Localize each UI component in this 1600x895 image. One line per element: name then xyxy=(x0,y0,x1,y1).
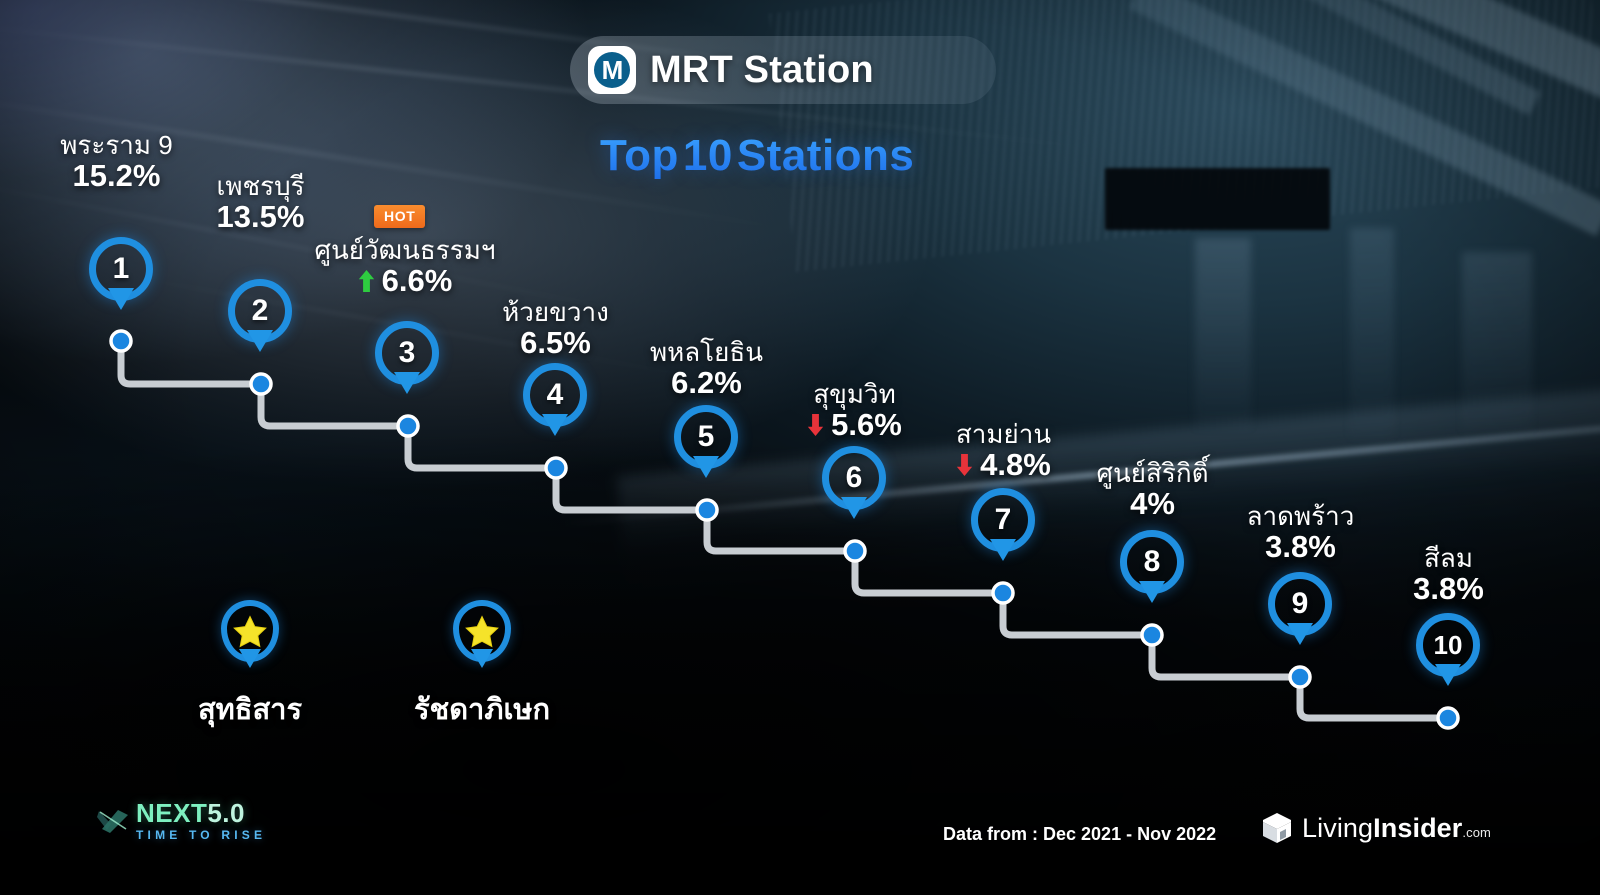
station-name: ศูนย์วัฒนธรรมฯ xyxy=(285,236,525,264)
station-name: เพชรบุรี xyxy=(133,172,388,200)
station-name: ลาดพร้าว xyxy=(1173,502,1428,530)
starred-station-1[interactable]: สุทธิสาร xyxy=(221,600,279,662)
rank-number: 1 xyxy=(113,254,130,284)
station-percent: 6.6% xyxy=(382,264,453,299)
star-icon xyxy=(233,615,267,648)
subtitle-number: 10 xyxy=(683,131,733,180)
station-marker-4[interactable]: 4 xyxy=(523,363,587,427)
station-name: พระราม 9 xyxy=(0,131,244,159)
map-pin-icon: 2 xyxy=(228,279,292,343)
subtitle-post: Stations xyxy=(737,131,915,180)
rank-number: 6 xyxy=(846,463,863,493)
station-percent: 3.8% xyxy=(1413,572,1484,607)
x-mark-icon xyxy=(96,804,130,838)
rank-number: 9 xyxy=(1292,589,1309,619)
map-pin-icon: 4 xyxy=(523,363,587,427)
brand-version: 5.0 xyxy=(207,798,245,828)
brand-tagline: TIME TO RISE xyxy=(136,829,266,841)
partner-name-bold: Insider xyxy=(1373,813,1462,843)
station-name: ห้วยขวาง xyxy=(428,298,683,326)
station-marker-2[interactable]: 2 xyxy=(228,279,292,343)
livinginsider-logo[interactable]: LivingInsider.com xyxy=(1262,812,1491,844)
trend-down-icon xyxy=(956,453,973,477)
trend-down-icon xyxy=(807,413,824,437)
station-name: ศูนย์สิริกิติ์ xyxy=(1025,459,1280,487)
station-marker-1[interactable]: 1 xyxy=(89,237,153,301)
rank-number: 2 xyxy=(252,296,269,326)
page-subtitle: Top10Stations xyxy=(600,131,980,181)
station-label-10: สีลม 3.8% xyxy=(1321,544,1576,607)
station-name: พหลโยธิน xyxy=(579,338,834,366)
subtitle-pre: Top xyxy=(600,131,679,180)
mrt-logo-icon: M xyxy=(588,46,636,94)
station-label-2: เพชรบุรี 13.5% xyxy=(133,172,388,235)
partner-name-light: Living xyxy=(1302,813,1373,843)
starred-station-name: รัชดาภิเษก xyxy=(372,686,592,732)
station-name: สุขุมวิท xyxy=(727,380,982,408)
rank-number: 7 xyxy=(995,505,1012,535)
station-marker-10[interactable]: 10 xyxy=(1416,613,1480,677)
house-icon xyxy=(1262,812,1292,844)
starred-station-name: สุทธิสาร xyxy=(140,686,360,732)
map-pin-icon xyxy=(221,600,279,662)
rank-number: 5 xyxy=(698,422,715,452)
mrt-logo-letter: M xyxy=(602,57,623,83)
rank-number: 10 xyxy=(1434,632,1463,658)
brand-name: NEXT xyxy=(136,798,207,828)
data-source-range: Data from : Dec 2021 - Nov 2022 xyxy=(943,824,1216,845)
rank-number: 3 xyxy=(399,338,416,368)
map-pin-icon: 1 xyxy=(89,237,153,301)
header-banner: M MRT Station xyxy=(570,36,996,104)
partner-tld: .com xyxy=(1462,825,1491,840)
next5-logo: NEXT5.0 TIME TO RISE xyxy=(96,800,266,841)
station-label-3: ศูนย์วัฒนธรรมฯ 6.6% xyxy=(285,236,525,299)
map-pin-icon xyxy=(453,600,511,662)
infographic-canvas: M MRT Station Top10Stations xyxy=(0,0,1600,895)
starred-station-2[interactable]: รัชดาภิเษก xyxy=(453,600,511,662)
station-name: สามย่าน xyxy=(876,420,1131,448)
rank-number: 8 xyxy=(1144,547,1161,577)
station-percent: 13.5% xyxy=(217,200,305,235)
station-percent: 4% xyxy=(1130,487,1175,522)
star-icon xyxy=(465,615,499,648)
map-pin-icon: 10 xyxy=(1416,613,1480,677)
station-name: สีลม xyxy=(1321,544,1576,572)
rank-number: 4 xyxy=(547,380,564,410)
trend-up-icon xyxy=(358,269,375,293)
page-title: MRT Station xyxy=(650,49,874,92)
